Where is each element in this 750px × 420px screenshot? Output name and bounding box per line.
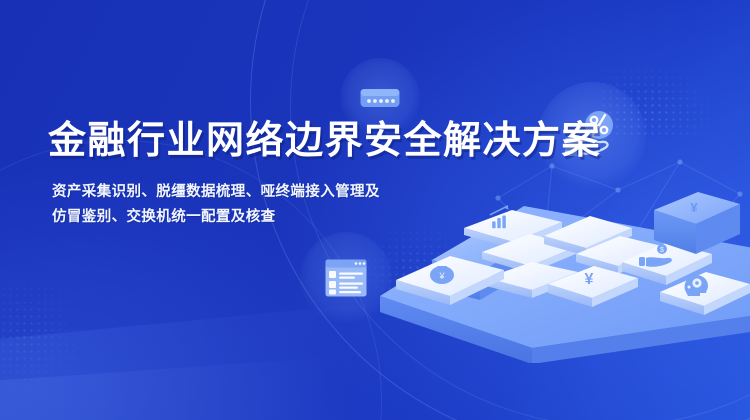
- subtitle-line-2: 仿冒鉴别、交换机统一配置及核查: [52, 205, 601, 230]
- yen-icon: ¥: [585, 271, 594, 288]
- document-list-icon: [324, 258, 368, 298]
- svg-text:¥: ¥: [438, 271, 445, 281]
- server-icon: [359, 83, 401, 113]
- subtitle-line-1: 资产采集识别、脱缰数据梳理、哑终端接入管理及: [52, 180, 601, 205]
- dot-pattern: [0, 250, 120, 400]
- yen-cube-icon: ¥: [690, 200, 698, 215]
- money-bag-icon: ¥: [430, 266, 454, 284]
- svg-text:$: $: [660, 247, 664, 254]
- banner-root: 金融行业网络边界安全解决方案 资产采集识别、脱缰数据梳理、哑终端接入管理及 仿冒…: [0, 0, 750, 420]
- page-title: 金融行业网络边界安全解决方案: [48, 118, 601, 164]
- page-subtitle: 资产采集识别、脱缰数据梳理、哑终端接入管理及 仿冒鉴别、交换机统一配置及核查: [52, 180, 601, 230]
- copy-block: 金融行业网络边界安全解决方案 资产采集识别、脱缰数据梳理、哑终端接入管理及 仿冒…: [48, 118, 601, 230]
